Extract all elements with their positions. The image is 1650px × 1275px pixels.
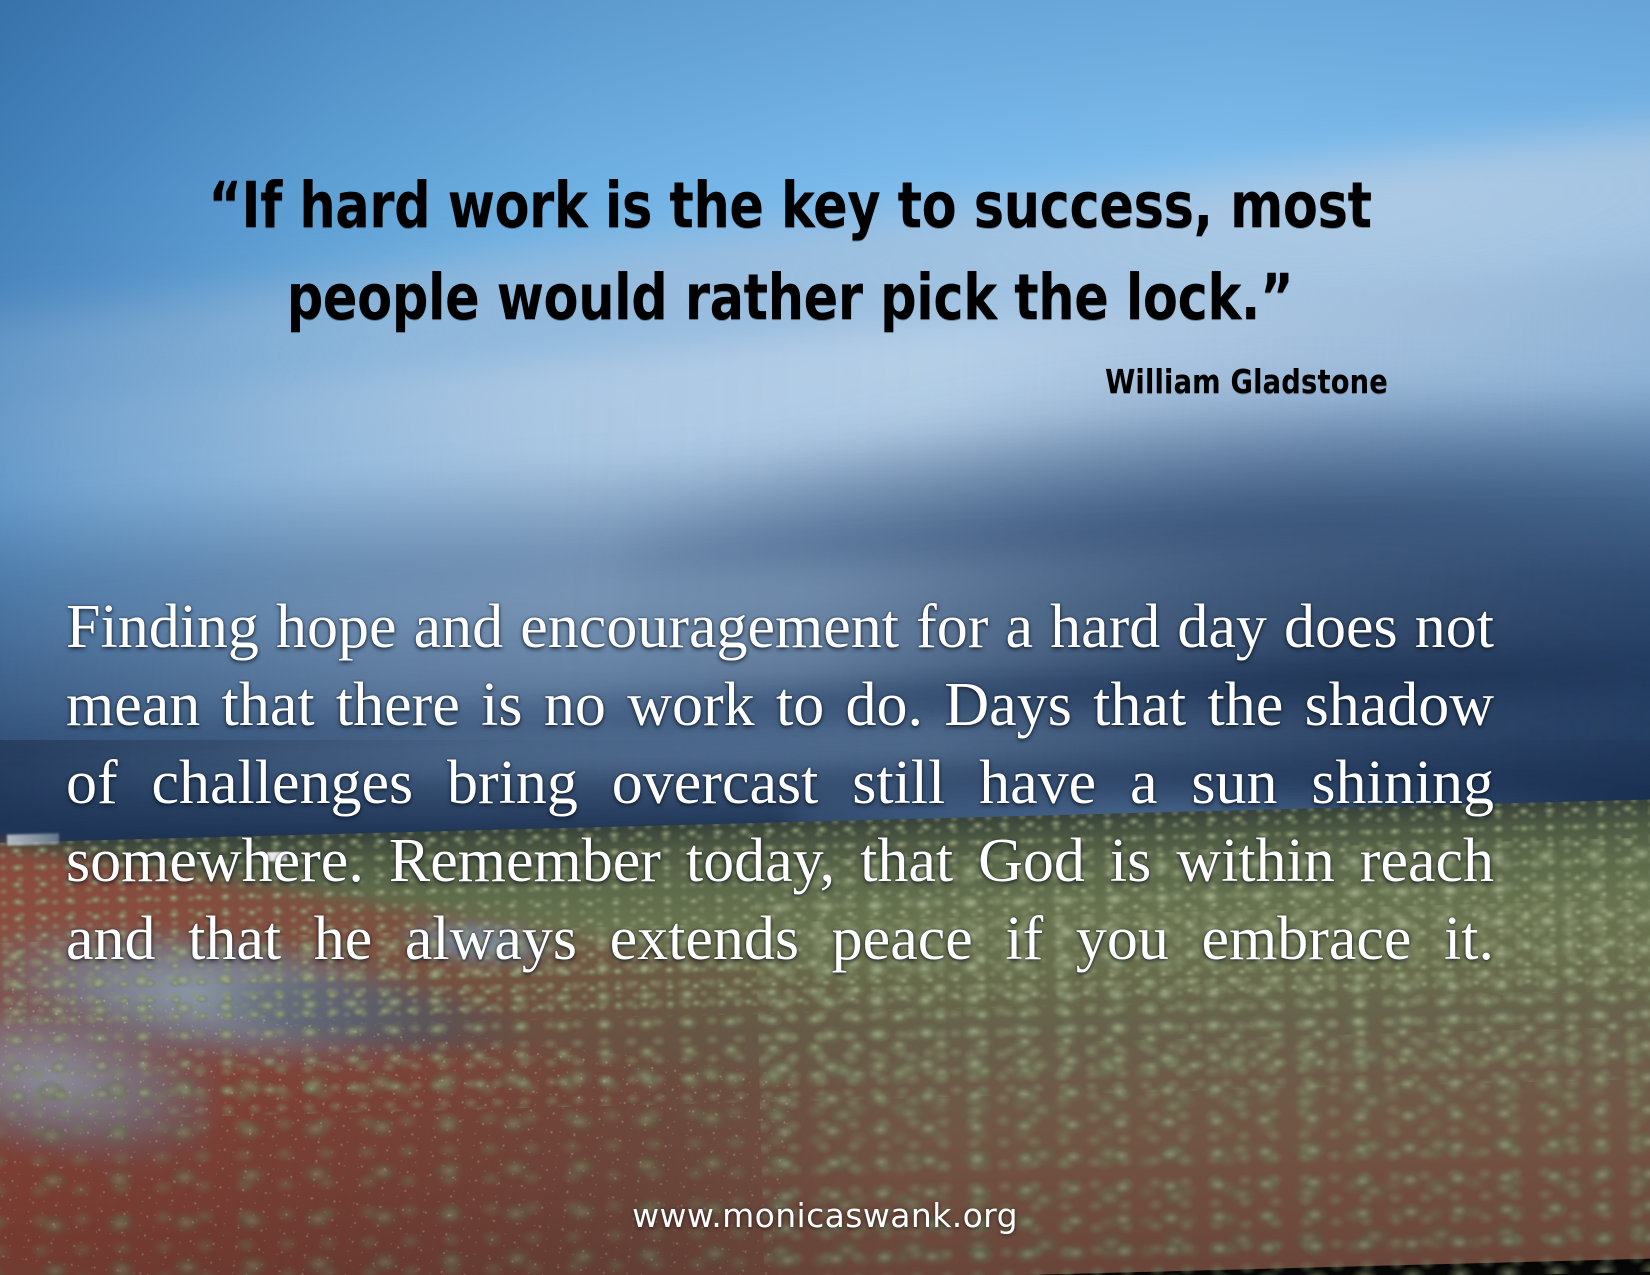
website-url: www.monicaswank.org [0,1196,1650,1235]
quote-image-card: “If hard work is the key to success, mos… [0,0,1650,1275]
quote-attribution: William Gladstone [221,362,1388,401]
distant-building [6,833,58,845]
devotional-body-text: Finding hope and encouragement for a har… [66,588,1494,1056]
quote-headline: “If hard work is the key to success, mos… [187,160,1393,344]
